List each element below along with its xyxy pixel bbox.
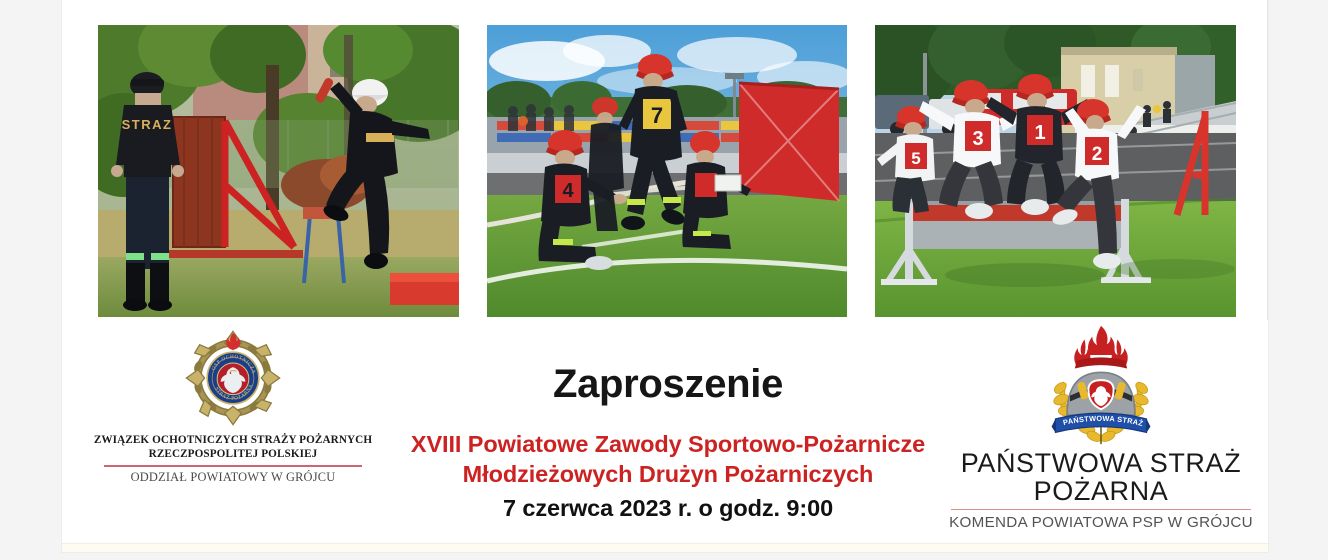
event-name-line-2: Młodzieżowych Drużyn Pożarniczych <box>398 460 938 490</box>
zosp-organization-name: ZWIĄZEK OCHOTNICZYCH STRAŻY POŻARNYCH RZ… <box>68 434 398 461</box>
zosp-organization-line-1: ZWIĄZEK OCHOTNICZYCH STRAŻY POŻARNYCH <box>74 434 392 448</box>
zosp-organization-line-2: RZECZPOSPOLITEJ POLSKIEJ <box>74 448 392 462</box>
psp-organization-name: PAŃSTWOWA STRAŻ POŻARNA <box>938 449 1264 506</box>
svg-text:1: 1 <box>1034 122 1045 144</box>
photo-obstacle-course: STRAZ <box>98 25 459 317</box>
svg-text:5: 5 <box>911 149 920 168</box>
svg-text:STRAZ: STRAZ <box>122 117 173 132</box>
event-date-time: 7 czerwca 2023 r. o godz. 9:00 <box>398 493 938 524</box>
invitation-page: STRAZ <box>62 0 1268 552</box>
zosp-rp-emblem: OSP OCHOTNICZA STRAŻ POŻARNA <box>183 328 283 428</box>
psp-divider-rule <box>951 509 1251 511</box>
event-name-line-1: XVIII Powiatowe Zawody Sportowo-Pożarnic… <box>398 430 938 460</box>
invitation-text-block: Zaproszenie XVIII Powiatowe Zawody Sport… <box>398 320 938 523</box>
svg-text:4: 4 <box>562 180 574 202</box>
svg-text:7: 7 <box>651 103 663 128</box>
zosp-logo-block: OSP OCHOTNICZA STRAŻ POŻARNA ZWIĄZEK OCH… <box>68 328 398 485</box>
photo-strip: STRAZ <box>62 0 1268 320</box>
page-bottom-band <box>62 543 1268 552</box>
zosp-division-label: ODDZIAŁ POWIATOWY W GRÓJCU <box>68 470 398 485</box>
event-details: XVIII Powiatowe Zawody Sportowo-Pożarnic… <box>398 430 938 523</box>
svg-text:2: 2 <box>1092 144 1103 165</box>
page-title: Zaproszenie <box>398 364 938 404</box>
photo-hurdle-jump: 5 3 <box>875 25 1236 317</box>
psp-logo-block: PAŃSTWOWA STRAŻ POŻARNA PAŃSTWOWA STRAŻ … <box>938 322 1264 531</box>
lower-section: OSP OCHOTNICZA STRAŻ POŻARNA ZWIĄZEK OCH… <box>62 320 1268 552</box>
zosp-divider-rule <box>104 465 362 467</box>
svg-text:3: 3 <box>972 128 983 150</box>
psp-division-label: KOMENDA POWIATOWA PSP W GRÓJCU <box>938 514 1264 531</box>
psp-emblem: PAŃSTWOWA STRAŻ POŻARNA <box>1038 322 1164 448</box>
photo-hose-relay: 7 4 <box>487 25 847 317</box>
